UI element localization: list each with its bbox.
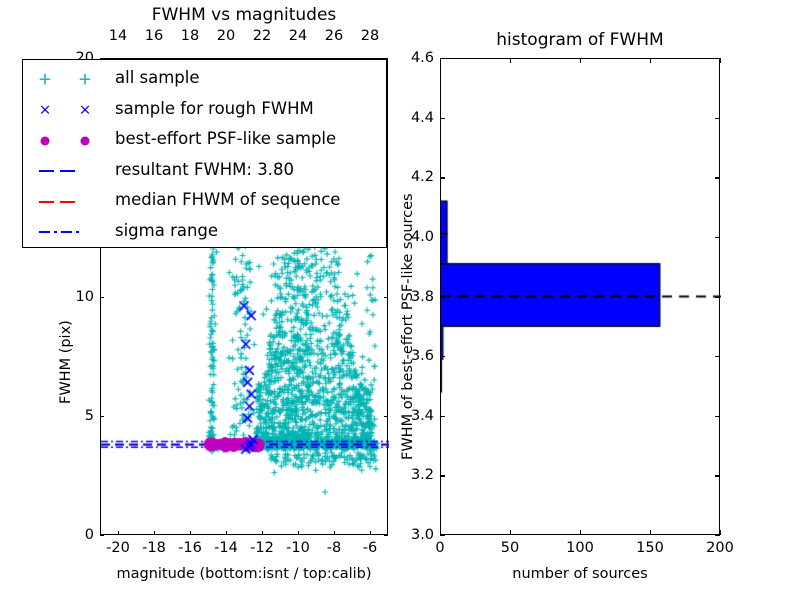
legend-label: resultant FWHM: 3.80: [115, 160, 294, 179]
tick-mark: [440, 356, 445, 357]
plus-glyph: +: [38, 71, 52, 88]
xticks-right-label: 150: [636, 540, 664, 556]
xticks-top-label: 16: [145, 28, 163, 44]
xticks-bottom-label: -12: [250, 540, 274, 556]
circle-glyph: [81, 136, 90, 145]
legend-item: median FHWM of sequence: [23, 186, 386, 218]
dashed-line: [23, 186, 111, 218]
plus-marker: ++: [23, 64, 111, 96]
right-panel-title: histogram of FWHM: [440, 30, 720, 50]
tick-mark: [262, 531, 263, 535]
yticks-right-label: 3.0: [411, 527, 434, 543]
line-sample: [39, 170, 54, 172]
xticks-right-label: 100: [566, 540, 594, 556]
left-panel-title: FWHM vs magnitudes: [100, 5, 388, 25]
tick-mark: [154, 531, 155, 535]
xticks-right-label: 200: [706, 540, 734, 556]
tick-mark: [100, 297, 104, 298]
legend-label: median FHWM of sequence: [115, 190, 340, 209]
left-ylabel: FWHM (pix): [58, 320, 74, 404]
legend-label: all sample: [115, 68, 200, 87]
xticks-top-label: 20: [217, 28, 235, 44]
legend-label: best-effort PSF-like sample: [115, 129, 336, 148]
tick-mark: [715, 177, 720, 178]
tick-mark: [384, 297, 388, 298]
xticks-bottom-label: -10: [286, 540, 310, 556]
tick-mark: [440, 237, 445, 238]
tick-mark: [580, 58, 581, 63]
cross-glyph: ×: [39, 103, 52, 118]
xticks-bottom-label: -8: [327, 540, 341, 556]
xticks-top-label: 26: [325, 28, 343, 44]
tick-mark: [440, 535, 445, 536]
cross-marker: ××: [23, 95, 111, 127]
tick-mark: [440, 530, 441, 535]
tick-mark: [100, 535, 104, 536]
plus-glyph: +: [78, 71, 92, 88]
line-sample: [39, 201, 54, 203]
dashed-line: [23, 156, 111, 188]
cross-glyph: ×: [79, 103, 92, 118]
tick-mark: [715, 475, 720, 476]
line-sample: [61, 231, 72, 233]
legend-label: sigma range: [115, 221, 218, 240]
tick-mark: [370, 531, 371, 535]
yticks-left-label: 5: [85, 408, 94, 424]
tick-mark: [440, 118, 445, 119]
tick-mark: [650, 58, 651, 63]
legend-item: ++all sample: [23, 64, 386, 96]
legend-item: best-effort PSF-like sample: [23, 125, 386, 157]
circle-glyph: [41, 136, 50, 145]
tick-mark: [440, 58, 441, 63]
xticks-bottom-label: -16: [178, 540, 202, 556]
xticks-top-label: 14: [109, 28, 127, 44]
line-sample: [60, 170, 75, 172]
tick-mark: [510, 530, 511, 535]
xticks-bottom-label: -20: [106, 540, 130, 556]
tick-mark: [384, 535, 388, 536]
line-sample: [76, 231, 79, 233]
xticks-bottom-label: -14: [214, 540, 238, 556]
tick-mark: [715, 416, 720, 417]
tick-mark: [715, 237, 720, 238]
tick-mark: [440, 177, 445, 178]
tick-mark: [650, 530, 651, 535]
figure-canvas: FWHM vs magnitudes 1416182022242628 -20-…: [0, 0, 800, 600]
tick-mark: [440, 475, 445, 476]
legend-box: ++all sample××sample for rough FWHMbest-…: [22, 59, 387, 248]
legend-label: sample for rough FWHM: [115, 99, 314, 118]
dashdot-line: [23, 217, 111, 249]
right-xlabel: number of sources: [440, 566, 720, 582]
tick-mark: [715, 356, 720, 357]
xticks-top-label: 18: [181, 28, 199, 44]
xticks-right-label: 50: [501, 540, 519, 556]
line-sample: [54, 231, 57, 233]
tick-mark: [440, 416, 445, 417]
line-sample: [60, 201, 75, 203]
line-sample: [39, 231, 50, 233]
circle-marker: [23, 125, 111, 157]
tick-mark: [720, 530, 721, 535]
legend-item: resultant FWHM: 3.80: [23, 156, 386, 188]
histogram-plot-area: [441, 59, 721, 536]
legend-item: ××sample for rough FWHM: [23, 95, 386, 127]
xticks-top-label: 28: [361, 28, 379, 44]
xticks-bottom-label: -6: [363, 540, 377, 556]
tick-mark: [510, 58, 511, 63]
tick-mark: [720, 58, 721, 63]
xticks-bottom-label: -18: [142, 540, 166, 556]
yticks-right-label: 3.2: [411, 467, 434, 483]
xticks-right-label: 0: [435, 540, 444, 556]
right-ylabel: FWHM of best-effort PSF-like sources: [400, 193, 416, 460]
tick-mark: [226, 531, 227, 535]
yticks-right-label: 4.6: [411, 50, 434, 66]
yticks-left-label: 0: [85, 527, 94, 543]
xticks-top-label: 24: [289, 28, 307, 44]
tick-mark: [100, 416, 104, 417]
tick-mark: [580, 530, 581, 535]
tick-mark: [334, 531, 335, 535]
tick-mark: [440, 297, 445, 298]
tick-mark: [715, 535, 720, 536]
yticks-right-label: 4.2: [411, 169, 434, 185]
left-xlabel: magnitude (bottom:isnt / top:calib): [100, 566, 388, 582]
tick-mark: [118, 531, 119, 535]
tick-mark: [384, 416, 388, 417]
tick-mark: [298, 531, 299, 535]
xticks-top-label: 22: [253, 28, 271, 44]
legend-item: sigma range: [23, 217, 386, 249]
tick-mark: [190, 531, 191, 535]
tick-mark: [715, 118, 720, 119]
yticks-left-label: 10: [76, 289, 94, 305]
tick-mark: [715, 297, 720, 298]
yticks-right-label: 4.4: [411, 110, 434, 126]
